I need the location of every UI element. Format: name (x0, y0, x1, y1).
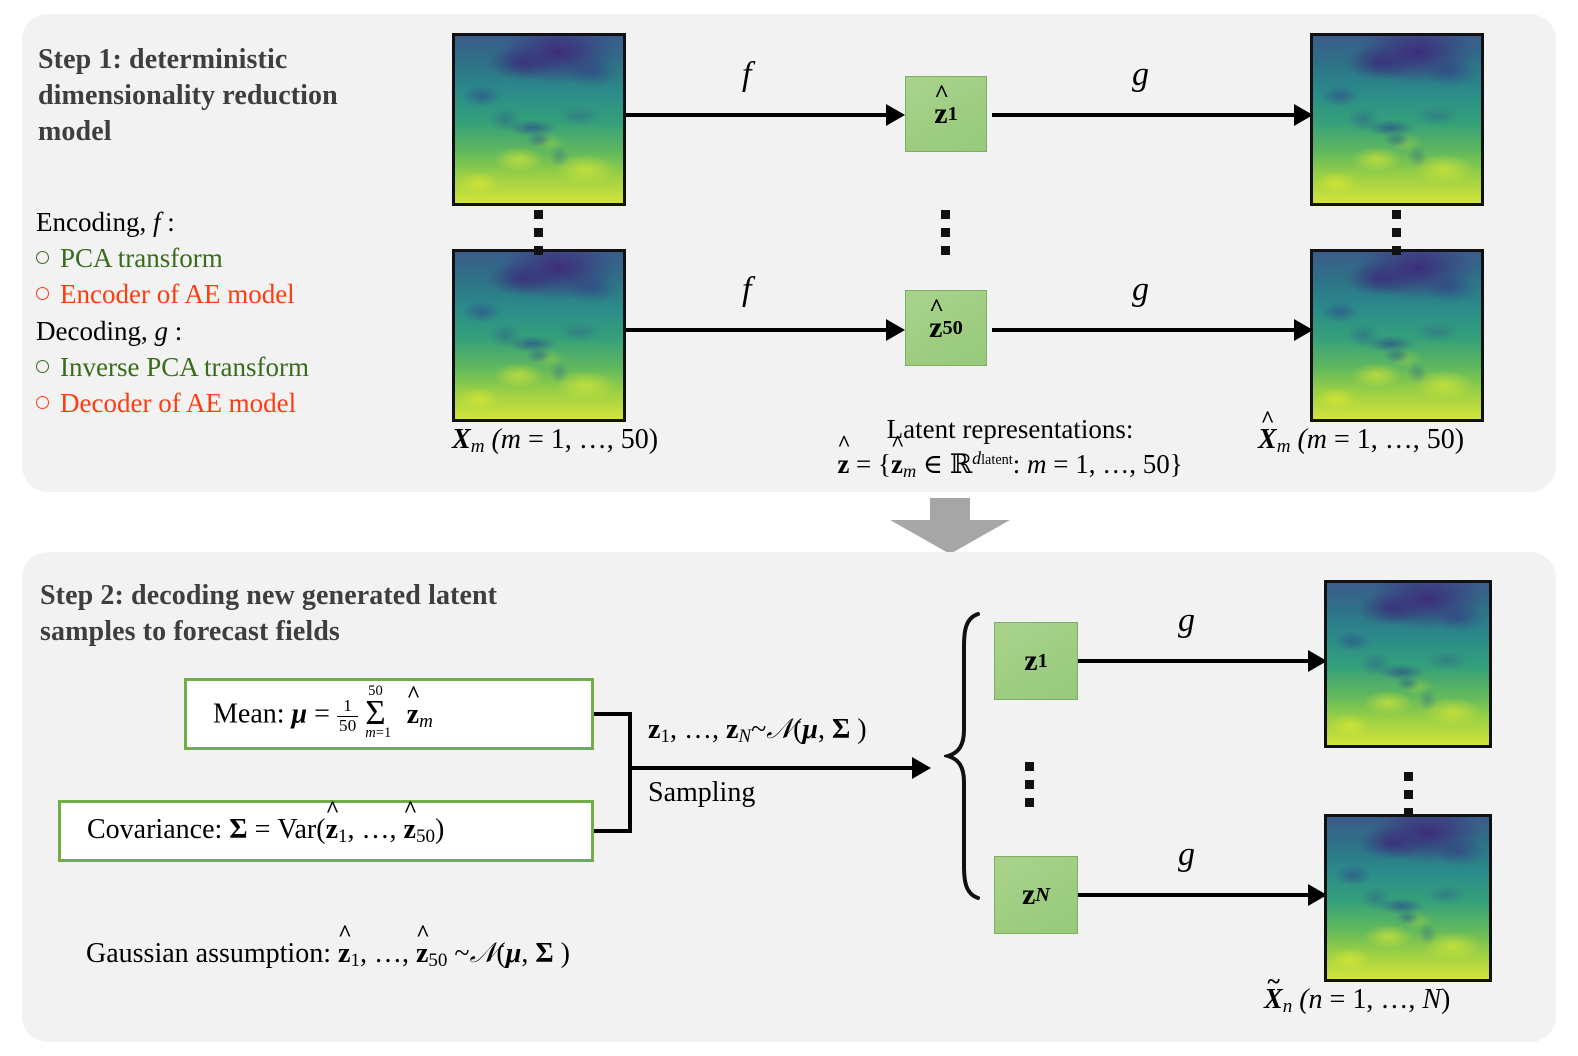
sampling-expression: z1, …, zN~𝒩(μ, Σ ) (648, 714, 867, 748)
reconstructed-field-map-top (1310, 33, 1484, 206)
latent-sample-label: z (1022, 878, 1035, 912)
ellipsis-latent-column (941, 210, 950, 264)
generated-field-map-bottom (1324, 814, 1492, 982)
sampling-label: Sampling (648, 777, 755, 809)
encoding-option-pca: PCA transform (36, 240, 436, 276)
decode-arrow-sample-top (1078, 659, 1324, 663)
latent-sample-box-z1: z1 (994, 622, 1078, 700)
encoding-option-ae: Encoder of AE model (36, 276, 436, 312)
map-detail-anomaly (455, 36, 623, 203)
generated-output-caption: ~Xn (n = 1, …, N) (1264, 984, 1450, 1018)
encode-arrow-top (626, 113, 902, 117)
output-caption: ^Xm (m = 1, …, 50) (1258, 424, 1464, 458)
latent-sample-box-zN: zN (994, 856, 1078, 934)
latent-box-z1-hat: ^z1 (905, 76, 987, 152)
decode-arrow-label-sample-top: g (1178, 602, 1195, 640)
latent-sample-label: z (1024, 644, 1037, 678)
generated-field-map-top (1324, 580, 1492, 748)
circle-bullet-icon (36, 360, 49, 373)
circle-bullet-icon (36, 287, 49, 300)
latent-caption-line2: ^z = {^zm ∈ ℝdlatent: m = 1, …, 50} (800, 447, 1220, 484)
gaussian-assumption: Gaussian assumption: ^z1, …, ^z50 ~𝒩(μ, … (86, 938, 570, 972)
input-field-map-bottom (452, 249, 626, 422)
ellipsis-output-column (1392, 210, 1401, 264)
latent-caption-line1: Latent representations: (800, 412, 1220, 447)
latent-box-label: ^z (929, 311, 942, 345)
sampling-arrow (632, 766, 928, 770)
covariance-formula-box: Covariance: Σ = Var(^z1, …, ^z50) (58, 800, 594, 862)
step2-title: Step 2: decoding new generated latent sa… (40, 578, 570, 650)
circle-bullet-icon (36, 396, 49, 409)
latent-box-label: ^z (934, 97, 947, 131)
map-detail-anomaly (1327, 583, 1489, 745)
transition-down-arrow-icon (886, 498, 1014, 554)
decode-arrow-label-sample-bottom: g (1178, 836, 1195, 874)
ellipsis-generated-map-column (1404, 772, 1413, 826)
mean-formula: Mean: μ = 150 50Σm=1 ^zm (213, 693, 433, 735)
encode-arrow-label-bottom: f (742, 271, 751, 309)
step1-title: Step 1: deterministic dimensionality red… (38, 42, 398, 149)
formula-connector-vertical (628, 712, 632, 833)
decoding-heading: Decoding, g : (36, 313, 436, 349)
formula-connector-top (594, 712, 632, 716)
decode-arrow-bottom (992, 328, 1310, 332)
decode-arrow-sample-bottom (1078, 893, 1324, 897)
mean-formula-box: Mean: μ = 150 50Σm=1 ^zm (184, 678, 594, 750)
latent-box-z50-hat: ^z50 (905, 290, 987, 366)
decode-arrow-label-top: g (1132, 56, 1149, 94)
decoding-option-label: Decoder of AE model (60, 385, 296, 421)
decode-arrow-label-bottom: g (1132, 271, 1149, 309)
encoding-option-label: PCA transform (60, 240, 223, 276)
circle-bullet-icon (36, 251, 49, 264)
input-caption: Xm (m = 1, …, 50) (452, 424, 658, 458)
decode-arrow-top (992, 113, 1310, 117)
ellipsis-input-column (534, 210, 543, 264)
encoding-heading: Encoding, f : (36, 204, 436, 240)
sampling-brace-icon (944, 612, 986, 900)
map-detail-anomaly (1327, 817, 1489, 979)
covariance-formula: Covariance: Σ = Var(^z1, …, ^z50) (87, 814, 444, 848)
decoding-option-label: Inverse PCA transform (60, 349, 309, 385)
map-detail-anomaly (1313, 252, 1481, 419)
encoding-option-label: Encoder of AE model (60, 276, 295, 312)
map-detail-anomaly (1313, 36, 1481, 203)
decoding-option-pca: Inverse PCA transform (36, 349, 436, 385)
formula-connector-bottom (594, 829, 632, 833)
map-detail-anomaly (455, 252, 623, 419)
input-field-map-top (452, 33, 626, 206)
reconstructed-field-map-bottom (1310, 249, 1484, 422)
encode-arrow-label-top: f (742, 56, 751, 94)
ellipsis-latent-sample-column (1025, 762, 1034, 816)
encode-arrow-bottom (626, 328, 902, 332)
latent-caption: Latent representations: ^z = {^zm ∈ ℝdla… (800, 412, 1220, 484)
decoding-option-ae: Decoder of AE model (36, 385, 436, 421)
step1-legend: Encoding, f : PCA transform Encoder of A… (36, 204, 436, 421)
